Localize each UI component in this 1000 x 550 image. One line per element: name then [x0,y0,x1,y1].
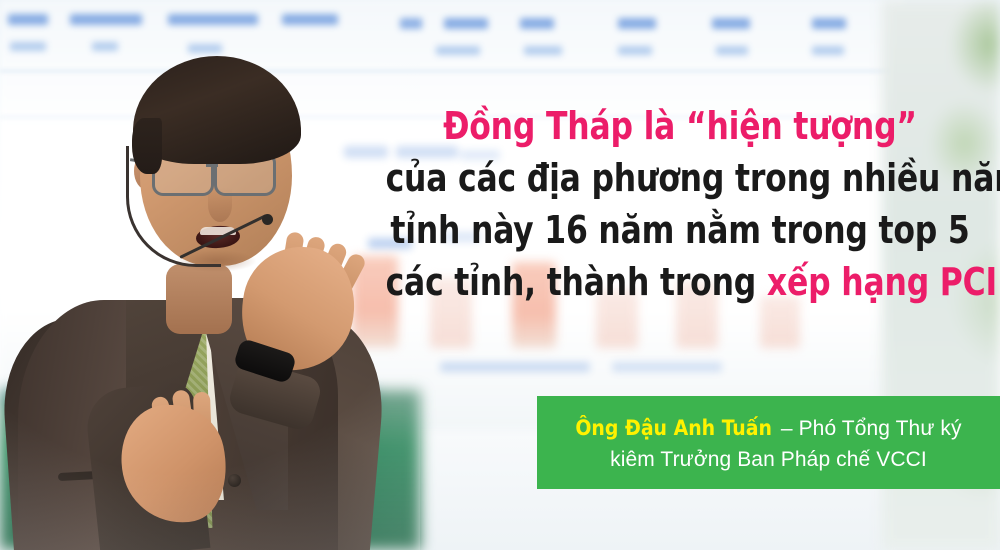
slide-label [612,362,722,372]
slide-header-cell [712,18,750,29]
slide-subheader-cell [524,46,562,55]
quote-line-4-prefix: các tỉnh, thành trong [386,260,767,304]
speaker-name: Ông Đậu Anh Tuấn [575,416,775,440]
quote-line-4: các tỉnh, thành trong xếp hạng PCI [386,256,975,308]
slide-header-cell [618,18,656,29]
quote-block: Đồng Tháp là “hiện tượng” của các địa ph… [360,100,1000,308]
microphone-icon [262,214,273,225]
suit-button [228,474,241,487]
speaker-photo [0,0,420,550]
slide-subheader-cell [618,46,652,55]
slide-label [440,362,590,372]
quote-card: Đồng Tháp là “hiện tượng” của các địa ph… [0,0,1000,550]
headset-microphone-band [126,146,221,267]
slide-header-cell [520,18,554,29]
speaker-title-line-1: Phó Tổng Thư ký [799,417,962,440]
slide-header-cell [812,18,846,29]
neck [166,264,232,334]
slide-subheader-cell [436,46,480,55]
quote-line-2: của các địa phương trong nhiều năm qua, [386,152,975,204]
slide-subheader-cell [716,46,748,55]
quote-line-1: Đồng Tháp là “hiện tượng” [386,100,975,152]
attribution-line-1: Ông Đậu Anh Tuấn – Phó Tổng Thư ký [575,413,961,444]
quote-line-4-accent: xếp hạng PCI [767,260,997,304]
quote-line-3: tỉnh này 16 năm nằm trong top 5 [386,204,975,256]
attribution-box: Ông Đậu Anh Tuấn – Phó Tổng Thư ký kiêm … [537,396,1000,489]
slide-header-cell [444,18,488,29]
attribution-dash: – [775,417,799,440]
attribution-line-2: kiêm Trưởng Ban Pháp chế VCCI [610,444,927,475]
slide-subheader-cell [812,46,844,55]
